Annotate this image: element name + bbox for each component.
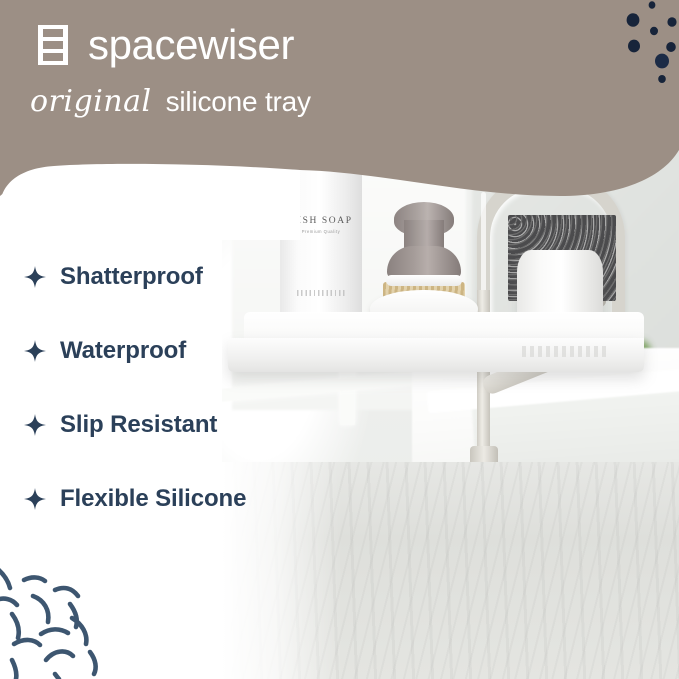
feature-label: Waterproof — [60, 337, 186, 365]
shelf-tray-icon — [36, 24, 70, 66]
product-infographic: DISH SOAP Premium Quality spacewise — [0, 0, 679, 679]
brand-lockup: spacewiser — [36, 24, 294, 66]
feature-item: Slip Resistant — [0, 388, 300, 462]
feature-list: Shatterproof Waterproof Slip Resistant F… — [0, 240, 300, 536]
sparkle-star-icon — [24, 340, 46, 362]
tagline: original silicone tray — [30, 84, 311, 119]
tagline-script-word: original — [30, 84, 152, 119]
feature-label: Flexible Silicone — [60, 485, 246, 513]
scattered-arcs-decoration — [0, 552, 135, 679]
scattered-dots-decoration — [600, 0, 679, 110]
pump-head — [307, 94, 335, 110]
sparkle-star-icon — [24, 266, 46, 288]
tagline-plain-words: silicone tray — [166, 86, 311, 118]
feature-label: Shatterproof — [60, 263, 203, 291]
feature-item: Waterproof — [0, 314, 300, 388]
brush-ring — [386, 275, 462, 286]
feature-item: Shatterproof — [0, 240, 300, 314]
brand-name: spacewiser — [88, 24, 294, 66]
sparkle-star-icon — [24, 414, 46, 436]
content-panel-corner — [0, 150, 300, 240]
feature-item: Flexible Silicone — [0, 462, 300, 536]
bottle-barcode — [297, 290, 345, 296]
sparkle-star-icon — [24, 488, 46, 510]
feature-label: Slip Resistant — [60, 411, 217, 439]
tray-embossed-logo — [522, 346, 608, 357]
